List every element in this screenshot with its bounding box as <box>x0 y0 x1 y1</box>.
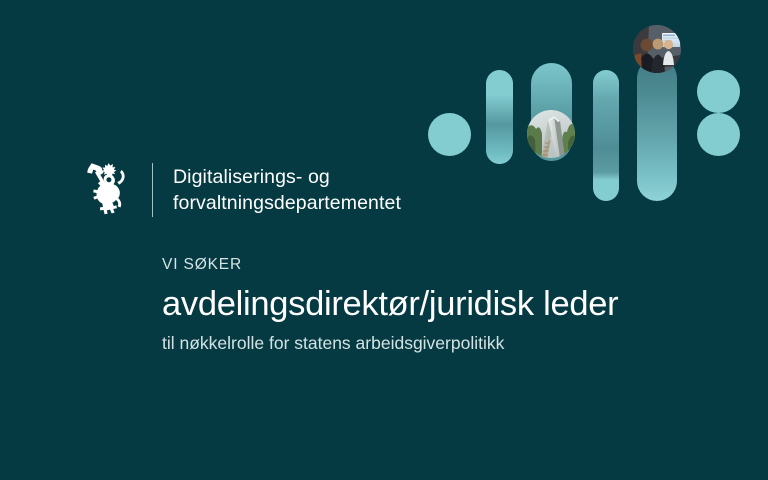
pill-3-shape <box>531 63 572 161</box>
circle-7-shape <box>697 113 740 156</box>
pill-2-shape <box>486 70 513 164</box>
norwegian-coat-of-arms-icon <box>86 160 132 220</box>
job-title: avdelingsdirektør/juridisk leder <box>162 283 722 325</box>
job-subtitle: til nøkkelrolle for statens arbeidsgiver… <box>162 332 722 355</box>
job-advert-poster: Digitaliserings- og forvaltningsdepartem… <box>0 0 768 480</box>
circle-1-shape <box>428 113 471 156</box>
ministry-name: Digitaliserings- og forvaltningsdepartem… <box>173 164 401 216</box>
logo-divider <box>152 163 153 217</box>
building-facade-photo <box>527 110 575 158</box>
meeting-room-photo-art <box>633 25 681 73</box>
ministry-logo-block: Digitaliserings- og forvaltningsdepartem… <box>86 160 401 220</box>
pill-5-shape <box>637 58 677 201</box>
circle-6-shape <box>697 70 740 113</box>
meeting-room-photo <box>633 25 681 73</box>
headline-block: VI SØKER avdelingsdirektør/juridisk lede… <box>162 255 722 355</box>
pill-4-shape <box>593 70 619 201</box>
building-facade-photo-art <box>527 110 575 158</box>
eyebrow-label: VI SØKER <box>162 255 722 275</box>
